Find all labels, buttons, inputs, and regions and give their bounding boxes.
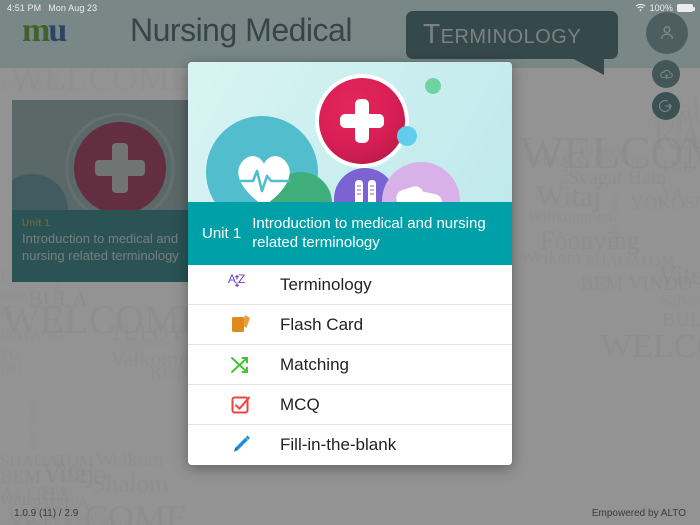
modal-hero-image	[188, 62, 512, 202]
menu-item-label: Matching	[280, 355, 349, 375]
modal-title-band: Unit 1 Introduction to medical and nursi…	[188, 202, 512, 265]
menu-item-label: Fill-in-the-blank	[280, 435, 396, 455]
wifi-icon	[635, 3, 646, 12]
menu-item-flash-card[interactable]: Flash Card	[188, 305, 512, 345]
heart-pulse-icon	[232, 150, 296, 202]
status-bar: 4:51 PM Mon Aug 23 100%	[0, 0, 700, 15]
status-time: 4:51 PM	[7, 3, 41, 13]
medical-cross-icon	[340, 99, 384, 143]
menu-item-label: Flash Card	[280, 315, 363, 335]
svg-text:A: A	[228, 273, 236, 286]
flash-cards-icon	[224, 313, 258, 337]
decorative-cyan-dot	[397, 126, 417, 146]
menu-item-terminology[interactable]: A Z Terminology	[188, 265, 512, 305]
test-tubes-icon	[352, 178, 380, 202]
footer-credit: Empowered by ALTO	[592, 508, 686, 519]
battery-icon	[677, 4, 693, 12]
app-root: WELCOMEWitajSvagat HainWillkommenFòonyin…	[0, 0, 700, 525]
svg-text:Z: Z	[238, 273, 245, 286]
status-date: Mon Aug 23	[48, 3, 97, 13]
modal-title: Introduction to medical and nursing rela…	[252, 214, 498, 252]
checkbox-icon	[224, 393, 258, 417]
menu-item-matching[interactable]: Matching	[188, 345, 512, 385]
decorative-green-dot	[425, 78, 441, 94]
footer-bar: 1.0.9 (11) / 2.9 Empowered by ALTO	[0, 501, 700, 525]
menu-item-label: MCQ	[280, 395, 320, 415]
sort-az-icon: A Z	[224, 273, 258, 297]
shuffle-icon	[224, 353, 258, 377]
modal-unit-label: Unit 1	[202, 225, 241, 242]
menu-item-mcq[interactable]: MCQ	[188, 385, 512, 425]
unit-activity-modal: Unit 1 Introduction to medical and nursi…	[188, 62, 512, 465]
pencil-icon	[224, 433, 258, 457]
battery-percent: 100%	[650, 3, 673, 13]
menu-item-fill-in-the-blank[interactable]: Fill-in-the-blank	[188, 425, 512, 465]
app-version: 1.0.9 (11) / 2.9	[14, 508, 78, 519]
menu-item-label: Terminology	[280, 275, 372, 295]
activity-menu: A Z Terminology Flash Card	[188, 265, 512, 465]
